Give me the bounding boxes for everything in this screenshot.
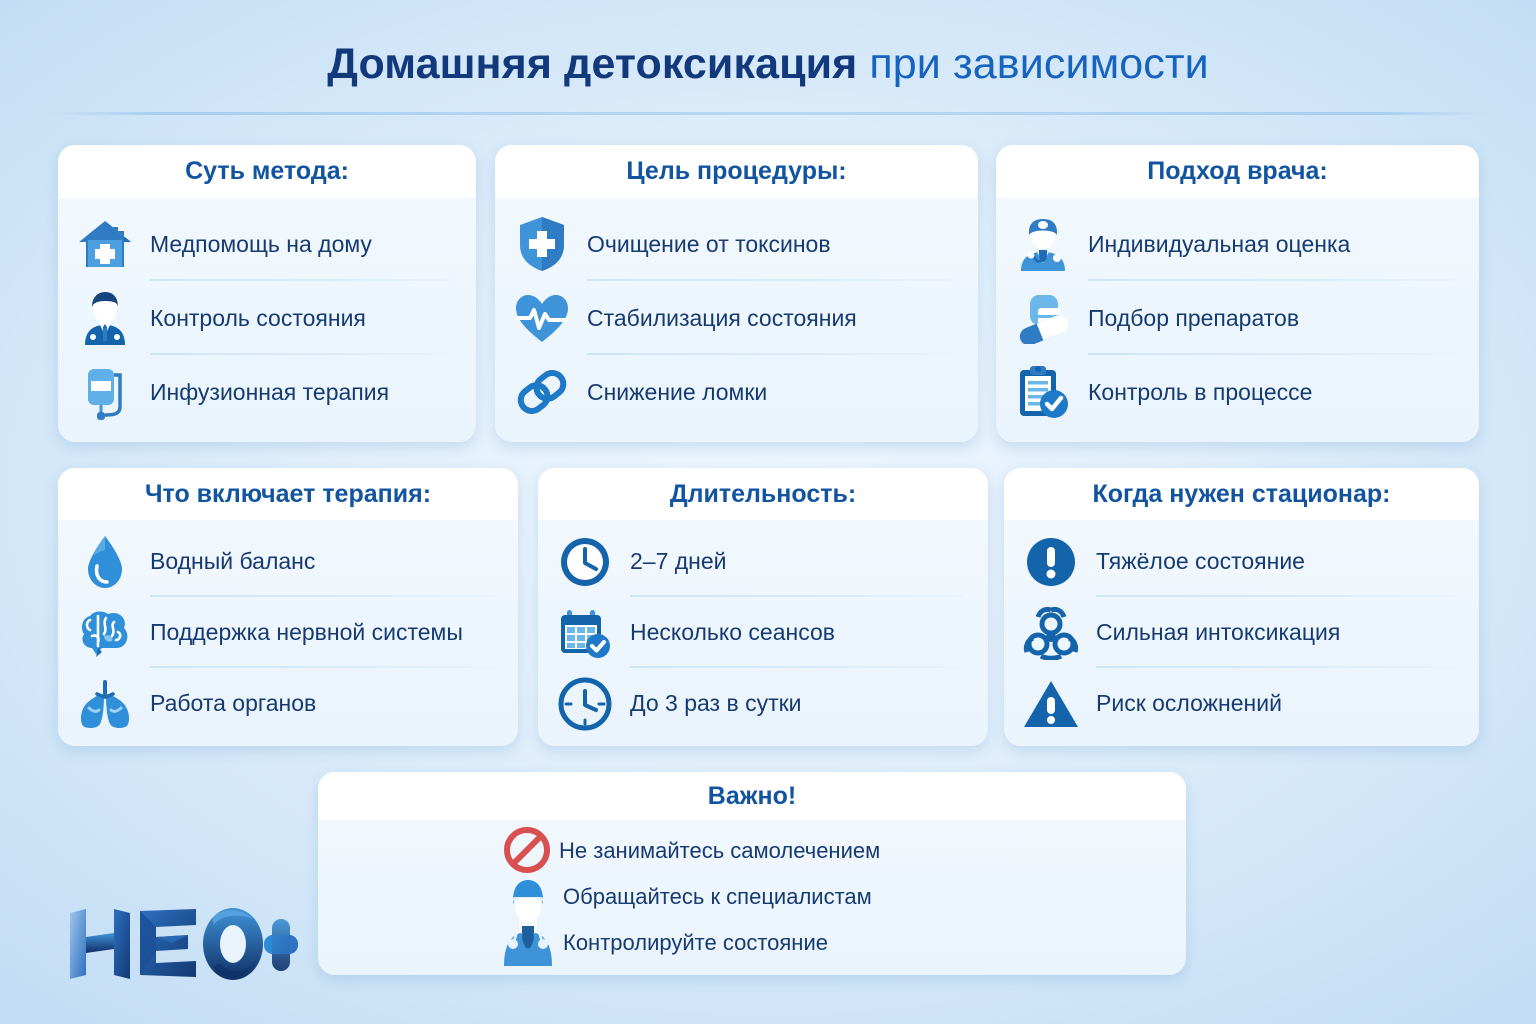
list-item-label: Снижение ломки	[587, 379, 767, 406]
card-heading: Что включает терапия:	[145, 480, 431, 509]
home-cross-icon	[74, 213, 136, 275]
doctor-person-icon	[74, 287, 136, 349]
list-item-label: Контроль состояния	[150, 305, 366, 332]
list-item[interactable]: Снижение ломки	[511, 355, 960, 429]
list-item[interactable]: Тяжёлое состояние	[1020, 526, 1461, 597]
clipboard-check-icon	[1012, 361, 1074, 423]
prohibition-icon	[503, 826, 551, 874]
doctor-stethoscope-icon	[1012, 213, 1074, 275]
list-item[interactable]: Медпомощь на дому	[74, 207, 458, 281]
card-header: Что включает терапия:	[58, 468, 518, 520]
list-item-label: Очищение от токсинов	[587, 231, 831, 258]
card-therapy-includes: Что включает терапия: Водный баланс	[58, 468, 518, 746]
list-item[interactable]: Очищение от токсинов	[511, 207, 960, 281]
list-item-label: Обращайтесь к специалистам	[563, 884, 872, 910]
card-header: Когда нужен стационар:	[1004, 468, 1479, 520]
card-essence-of-method: Суть метода: Медпомощь на дому	[58, 145, 476, 442]
card-body: Очищение от токсинов Стабилизация состоя…	[495, 198, 978, 429]
lungs-icon	[74, 673, 136, 735]
card-header: Подход врача:	[996, 145, 1479, 198]
list-item[interactable]: Водный баланс	[74, 526, 500, 597]
list-item-label: Водный баланс	[150, 548, 315, 575]
clock-outline-icon	[554, 673, 616, 735]
list-item-label: Работа органов	[150, 690, 316, 717]
list-item[interactable]: Риск осложнений	[1020, 668, 1461, 739]
shield-cross-icon	[511, 213, 573, 275]
card-important: Важно! Не занимайтесь самолечением	[318, 772, 1186, 975]
pills-icon	[1012, 287, 1074, 349]
heart-pulse-icon	[511, 287, 573, 349]
list-item-label: 2–7 дней	[630, 548, 727, 575]
list-item[interactable]: Обращайтесь к специалистам	[318, 874, 1186, 920]
list-item-label: Инфузионная терапия	[150, 379, 389, 406]
card-procedure-goal: Цель процедуры: Очищение от токсинов	[495, 145, 978, 442]
list-item[interactable]: Инфузионная терапия	[74, 355, 458, 429]
clock-icon	[554, 531, 616, 593]
list-item[interactable]: 2–7 дней	[554, 526, 970, 597]
list-item[interactable]: Индивидуальная оценка	[1012, 207, 1461, 281]
card-body: Водный баланс Поддержка нервной системы	[58, 520, 518, 739]
header-divider	[42, 112, 1494, 115]
list-item-label: Контролируйте состояние	[563, 930, 828, 956]
list-item[interactable]: Стабилизация состояния	[511, 281, 960, 355]
brain-icon	[74, 602, 136, 664]
list-item[interactable]: Поддержка нервной системы	[74, 597, 500, 668]
list-item[interactable]: Не занимайтесь самолечением	[318, 828, 1186, 874]
list-item-label: Несколько сеансов	[630, 619, 835, 646]
card-heading: Цель процедуры:	[626, 157, 846, 186]
card-heading: Суть метода:	[185, 157, 349, 186]
list-item-label: Не занимайтесь самолечением	[559, 838, 880, 864]
logo-neo-plus[interactable]	[68, 905, 298, 983]
list-item[interactable]: Контролируйте состояние	[318, 920, 1186, 966]
list-item[interactable]: Подбор препаратов	[1012, 281, 1461, 355]
card-duration: Длительность: 2–7 дней	[538, 468, 988, 746]
list-item-label: Стабилизация состояния	[587, 305, 857, 332]
card-heading: Длительность:	[670, 480, 856, 509]
list-item-label: Медпомощь на дому	[150, 231, 372, 258]
card-header: Суть метода:	[58, 145, 476, 198]
exclamation-circle-icon	[1020, 531, 1082, 593]
card-body: Не занимайтесь самолечением Обращайтесь …	[318, 820, 1186, 966]
card-body: 2–7 дней Несколько сеансо	[538, 520, 988, 739]
list-item-label: До 3 раз в сутки	[630, 690, 802, 717]
card-heading: Подход врача:	[1147, 157, 1327, 186]
list-item-label: Риск осложнений	[1096, 690, 1282, 717]
card-body: Медпомощь на дому Контроль состояния	[58, 198, 476, 429]
list-item-label: Индивидуальная оценка	[1088, 231, 1350, 258]
card-doctor-approach: Подход врача: Индивидуальная оценка	[996, 145, 1479, 442]
list-item[interactable]: Сильная интоксикация	[1020, 597, 1461, 668]
card-body: Тяжёлое состояние	[1004, 520, 1479, 739]
list-item-label: Поддержка нервной системы	[150, 619, 463, 646]
list-item[interactable]: Контроль состояния	[74, 281, 458, 355]
list-item[interactable]: Несколько сеансов	[554, 597, 970, 668]
doctor-figure-icon	[500, 868, 556, 966]
iv-drip-icon	[74, 361, 136, 423]
card-heading: Важно!	[708, 782, 796, 811]
title-bold-part: Домашняя детоксикация	[327, 40, 857, 88]
card-heading: Когда нужен стационар:	[1092, 480, 1390, 509]
title-light-part: при зависимости	[869, 40, 1208, 88]
list-item-label: Тяжёлое состояние	[1096, 548, 1305, 575]
water-drop-icon	[74, 531, 136, 593]
list-item-label: Контроль в процессе	[1088, 379, 1312, 406]
list-item-label: Сильная интоксикация	[1096, 619, 1340, 646]
warning-triangle-icon	[1020, 673, 1082, 735]
card-header: Важно!	[318, 772, 1186, 820]
card-body: Индивидуальная оценка Подбор препаратов	[996, 198, 1479, 429]
list-item-label: Подбор препаратов	[1088, 305, 1299, 332]
page-title: Домашняя детоксикация при зависимости	[0, 40, 1536, 89]
biohazard-icon	[1020, 602, 1082, 664]
calendar-check-icon	[554, 602, 616, 664]
card-when-hospital-needed: Когда нужен стационар: Тяжёлое состояние	[1004, 468, 1479, 746]
card-header: Цель процедуры:	[495, 145, 978, 198]
list-item[interactable]: Работа органов	[74, 668, 500, 739]
list-item[interactable]: До 3 раз в сутки	[554, 668, 970, 739]
chain-link-icon	[511, 361, 573, 423]
list-item[interactable]: Контроль в процессе	[1012, 355, 1461, 429]
card-header: Длительность:	[538, 468, 988, 520]
